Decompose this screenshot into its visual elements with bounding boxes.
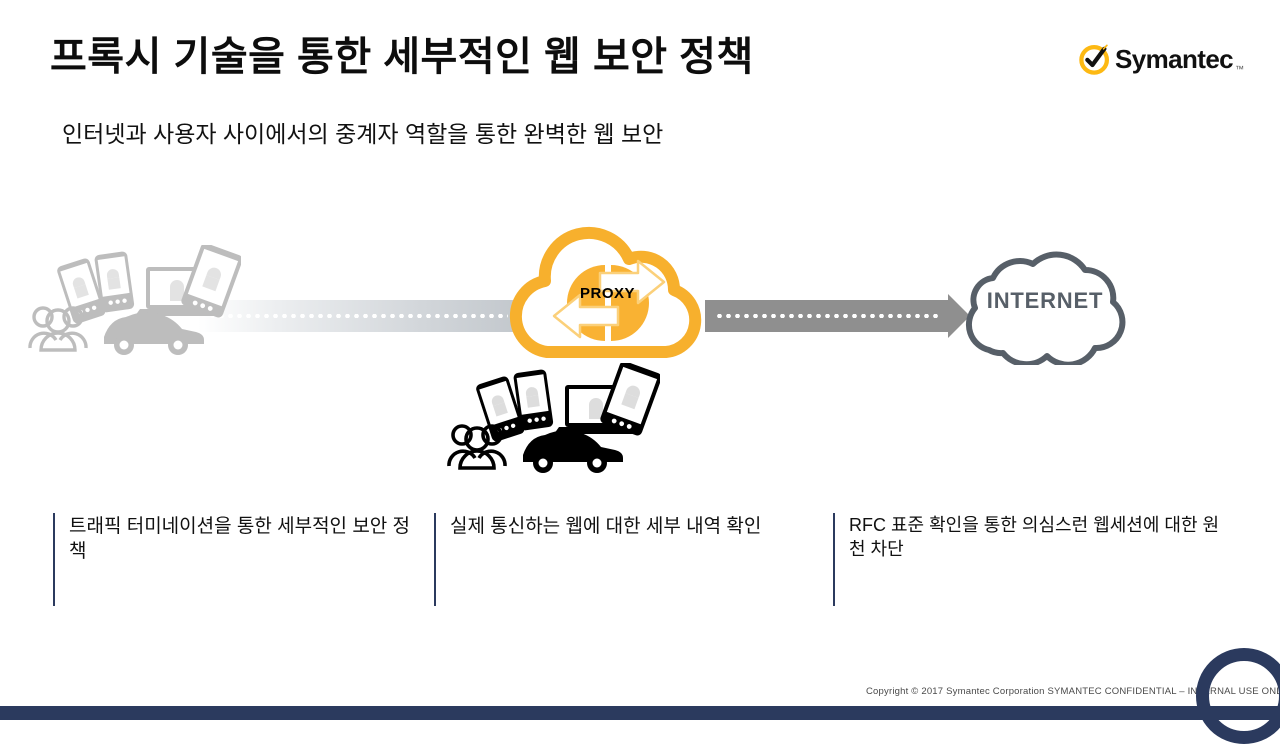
callout-text: 트래픽 터미네이션을 통한 세부적인 보안 정책 — [69, 514, 423, 564]
symantec-checkmark-icon — [1078, 42, 1112, 76]
dotted-flow-band-icon — [198, 300, 518, 332]
page-title: 프록시 기술을 통한 세부적인 웹 보안 정책 — [50, 24, 754, 82]
callout-item-1: 트래픽 터미네이션을 통한 세부적인 보안 정책 — [53, 513, 423, 606]
flow-dots-icon — [208, 314, 508, 318]
proxy-architecture-diagram: PROXY INTERNET — [0, 190, 1280, 490]
callout-text: 실제 통신하는 웹에 대한 세부 내역 확인 — [450, 514, 824, 539]
flow-dots-icon — [715, 314, 940, 318]
brand-ring-icon — [1196, 648, 1280, 744]
trademark-symbol: ™ — [1235, 64, 1244, 74]
callout-item-2: 실제 통신하는 웹에 대한 세부 내역 확인 — [434, 513, 824, 606]
page-subtitle: 인터넷과 사용자 사이에서의 중계자 역할을 통한 완벽한 웹 보안 — [62, 115, 663, 149]
internet-node-label: INTERNET — [945, 288, 1145, 314]
dotted-flow-arrow-icon — [705, 300, 950, 332]
symantec-wordmark: Symantec — [1115, 46, 1233, 72]
proxy-node-label: PROXY — [500, 285, 715, 302]
callout-row: 트래픽 터미네이션을 통한 세부적인 보안 정책 실제 통신하는 웹에 대한 세… — [0, 513, 1280, 613]
callout-item-3: RFC 표준 확인을 통한 의심스런 웹세션에 대한 원천 차단 — [833, 513, 1233, 606]
callout-text: RFC 표준 확인을 통한 의심스런 웹세션에 대한 원천 차단 — [849, 514, 1233, 562]
devices-users-cluster-icon-left — [26, 245, 241, 355]
symantec-logo: Symantec ™ — [1078, 38, 1248, 80]
footer-bar — [0, 706, 1280, 720]
devices-users-cluster-icon-bottom — [445, 363, 660, 473]
